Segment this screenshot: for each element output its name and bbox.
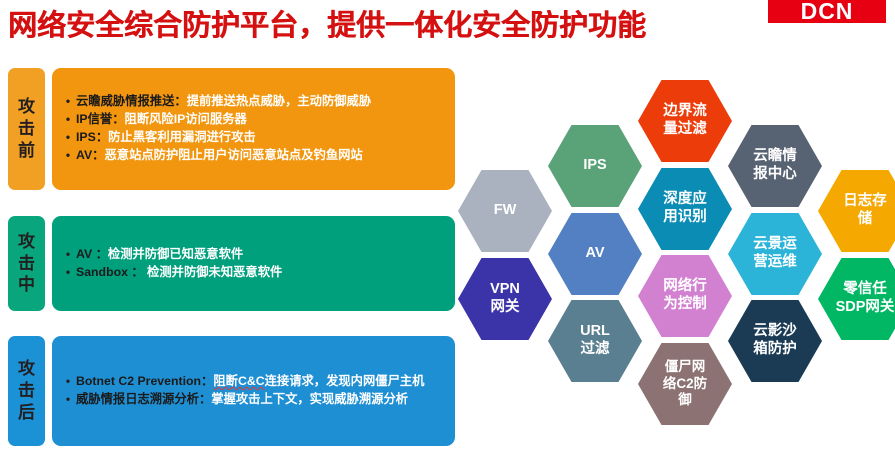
hex-label-line: 箱防护 — [753, 341, 797, 359]
bullet-text: AV：恶意站点防护阻止用户访问恶意站点及钓鱼网站 — [76, 147, 445, 164]
stage-tab-char: 击 — [18, 380, 35, 402]
stage-tab-after-attack: 攻 击 后 — [8, 336, 45, 446]
hex-net-behavior-ctl[interactable]: 网络行为控制 — [638, 255, 732, 337]
bullet-text: 威胁情报日志溯源分析：掌握攻击上下文，实现威胁溯源分析 — [76, 391, 445, 408]
hex-label-line: 日志存 — [843, 193, 887, 211]
hex-yunying-sandbox[interactable]: 云影沙箱防护 — [728, 300, 822, 382]
hex-edge-traffic-filter[interactable]: 边界流量过滤 — [638, 80, 732, 162]
list-item: • 威胁情报日志溯源分析：掌握攻击上下文，实现威胁溯源分析 — [60, 391, 445, 408]
list-item: • 云瞻威胁情报推送：提前推送热点威胁，主动防御威胁 — [60, 93, 445, 110]
hex-label-line: 量过滤 — [663, 121, 707, 139]
list-item: • AV ：检测并防御已知恶意软件 — [60, 246, 445, 263]
bullet-value: 阻断风险IP访问服务器 — [125, 112, 247, 126]
bullet-value: 提前推送热点威胁，主动防御威胁 — [187, 94, 371, 108]
bullet-dot-icon: • — [60, 373, 76, 390]
bullet-dot-icon: • — [60, 147, 76, 164]
hex-botnet-c2-defense[interactable]: 僵尸网络C2防御 — [638, 343, 732, 425]
bullet-value: 掌握攻击上下文，实现威胁溯源分析 — [211, 392, 408, 406]
stage-body-during-attack: • AV ：检测并防御已知恶意软件 • Sandbox ： 检测并防御未知恶意软… — [52, 216, 455, 311]
bullet-dot-icon: • — [60, 111, 76, 128]
dcn-logo: DCN — [768, 0, 886, 23]
bullet-value: 检测并防御已知恶意软件 — [108, 247, 243, 261]
stage-tab-char: 中 — [18, 274, 35, 296]
hex-label-line: SDP网关 — [836, 299, 895, 317]
hex-av[interactable]: AV — [548, 213, 642, 295]
hex-label-line: 报中心 — [753, 166, 797, 184]
page-title: 网络安全综合防护平台，提供一体化安全防护功能 — [8, 2, 646, 44]
stage-tab-char: 攻 — [18, 231, 35, 253]
hex-label-line: 御 — [678, 392, 692, 408]
stage-tab-char: 攻 — [18, 358, 35, 380]
bullet-dot-icon: • — [60, 264, 76, 281]
hex-ips[interactable]: IPS — [548, 125, 642, 207]
hex-label-line: 过滤 — [581, 341, 610, 359]
bullet-key: IPS： — [76, 130, 108, 144]
hex-label-line: FW — [494, 202, 517, 220]
hex-label-line: 零信任 — [843, 281, 887, 299]
bullet-key: IP信誉： — [76, 112, 125, 126]
stage-tab-during-attack: 攻 击 中 — [8, 216, 45, 311]
hex-label-line: 营运维 — [753, 254, 797, 272]
bullet-key: AV ： — [76, 247, 108, 261]
hex-label-line: URL — [580, 323, 610, 341]
hex-label-line: 深度应 — [663, 191, 707, 209]
hex-label-line: 网关 — [491, 299, 520, 317]
list-item: • AV：恶意站点防护阻止用户访问恶意站点及钓鱼网站 — [60, 147, 445, 164]
bullet-key: Sandbox ： — [76, 265, 144, 279]
bullet-value: 连接请求，发现内网僵尸主机 — [265, 374, 425, 388]
hex-label-line: 网络行 — [663, 278, 707, 296]
stage-tab-char: 前 — [18, 140, 35, 162]
bullet-dot-icon: • — [60, 391, 76, 408]
bullet-key: 威胁情报日志溯源分析： — [76, 392, 211, 406]
page-header: 网络安全综合防护平台，提供一体化安全防护功能 DCN — [0, 0, 895, 52]
stage-tab-char: 击 — [18, 118, 35, 140]
hex-label-line: AV — [585, 245, 604, 263]
stage-tab-char: 击 — [18, 253, 35, 275]
list-item: • IPS：防止黑客利用漏洞进行攻击 — [60, 129, 445, 146]
bullet-dot-icon: • — [60, 246, 76, 263]
bullet-key: Botnet C2 Prevention： — [76, 374, 213, 388]
hex-yunzhan-intel-center[interactable]: 云瞻情报中心 — [728, 125, 822, 207]
bullet-key: 云瞻威胁情报推送： — [76, 94, 187, 108]
hex-label-line: 僵尸网 — [665, 359, 706, 375]
hex-label-line: IPS — [583, 157, 606, 175]
stage-body-before-attack: • 云瞻威胁情报推送：提前推送热点威胁，主动防御威胁 • IP信誉：阻断风险IP… — [52, 68, 455, 190]
bullet-key: AV： — [76, 148, 104, 162]
bullet-text: IP信誉：阻断风险IP访问服务器 — [76, 111, 445, 128]
dcn-logo-text: DCN — [768, 0, 886, 23]
hex-label-line: 络C2防 — [663, 376, 707, 392]
stage-tab-char: 攻 — [18, 96, 35, 118]
hex-label-line: 储 — [858, 211, 873, 229]
bullet-text: Sandbox ： 检测并防御未知恶意软件 — [76, 264, 445, 281]
bullet-text: AV ：检测并防御已知恶意软件 — [76, 246, 445, 263]
hex-label-line: 用识别 — [663, 209, 707, 227]
list-item: • IP信誉：阻断风险IP访问服务器 — [60, 111, 445, 128]
list-item: • Botnet C2 Prevention：阻断C&C连接请求，发现内网僵尸主… — [60, 373, 445, 390]
hex-label-line: 为控制 — [663, 296, 707, 314]
bullet-value: 防止黑客利用漏洞进行攻击 — [108, 130, 256, 144]
hex-vpn-gateway[interactable]: VPN网关 — [458, 258, 552, 340]
stage-tab-char: 后 — [18, 402, 35, 424]
bullet-text: IPS：防止黑客利用漏洞进行攻击 — [76, 129, 445, 146]
hex-yunjing-ops[interactable]: 云景运营运维 — [728, 213, 822, 295]
hex-label-line: 云瞻情 — [753, 148, 797, 166]
hex-label-line: 云影沙 — [753, 323, 797, 341]
hex-fw[interactable]: FW — [458, 170, 552, 252]
bullet-value: 恶意站点防护阻止用户访问恶意站点及钓鱼网站 — [104, 148, 362, 162]
hex-label-line: 云景运 — [753, 236, 797, 254]
hex-label-line: 边界流 — [663, 103, 707, 121]
stage-body-after-attack: • Botnet C2 Prevention：阻断C&C连接请求，发现内网僵尸主… — [52, 336, 455, 446]
bullet-value: 检测并防御未知恶意软件 — [144, 265, 283, 279]
hex-deep-app-id[interactable]: 深度应用识别 — [638, 168, 732, 250]
bullet-text: 云瞻威胁情报推送：提前推送热点威胁，主动防御威胁 — [76, 93, 445, 110]
list-item: • Sandbox ： 检测并防御未知恶意软件 — [60, 264, 445, 281]
hex-zero-trust-sdp[interactable]: 零信任SDP网关 — [818, 258, 895, 340]
bullet-text: Botnet C2 Prevention：阻断C&C连接请求，发现内网僵尸主机 — [76, 373, 445, 390]
stage-tab-before-attack: 攻 击 前 — [8, 68, 45, 190]
hex-label-line: VPN — [490, 281, 520, 299]
bullet-dot-icon: • — [60, 93, 76, 110]
hex-log-storage[interactable]: 日志存储 — [818, 170, 895, 252]
bullet-dot-icon: • — [60, 129, 76, 146]
hex-url-filter[interactable]: URL过滤 — [548, 300, 642, 382]
bullet-value-misspelled: 阻断C&C — [213, 374, 264, 388]
